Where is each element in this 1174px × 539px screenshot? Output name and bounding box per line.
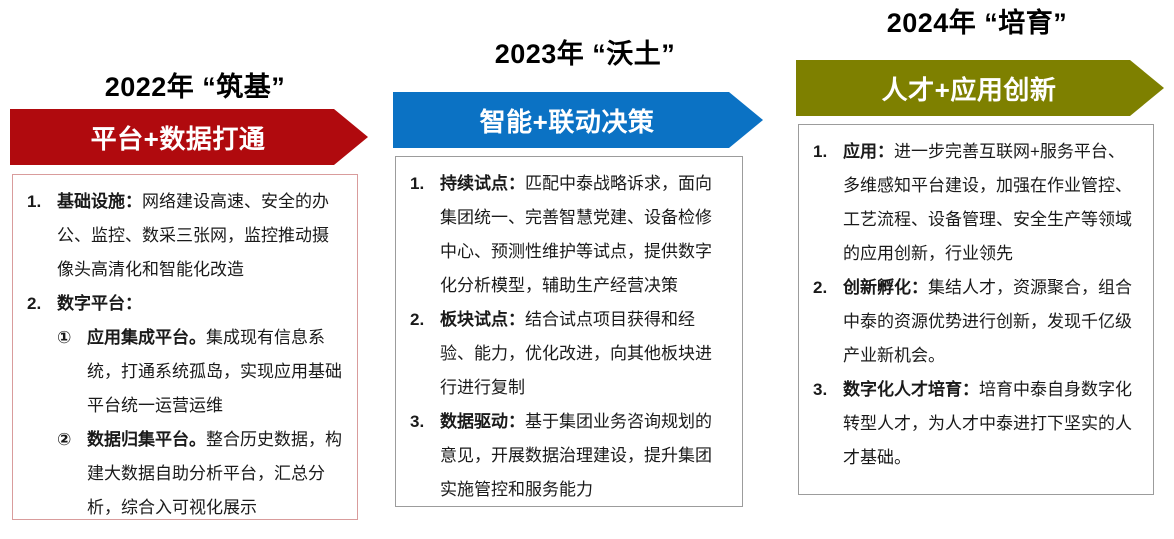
item-number: 1. bbox=[813, 135, 827, 169]
item-list-2023: 1.持续试点：匹配中泰战略诉求，面向集团统一、完善智慧党建、设备检修中心、预测性… bbox=[406, 167, 728, 507]
roadmap-column-2022: 2022年 “筑基” 平台+数据打通 1.基础设施：网络建设高速、安全的办公、监… bbox=[0, 0, 390, 539]
sub-item-number: ① bbox=[57, 321, 71, 355]
sub-item-lead: 数据归集平台。 bbox=[87, 430, 206, 449]
sub-list-item: ②数据归集平台。整合历史数据，构建大数据自助分析平台，汇总分析，综合入可视化展示 bbox=[57, 423, 343, 525]
item-lead: 数字化人才培育： bbox=[843, 380, 979, 399]
roadmap-column-2024: 2024年 “培育” 人才+应用创新 1.应用：进一步完善互联网+服务平台、多维… bbox=[780, 0, 1174, 539]
content-box-2024: 1.应用：进一步完善互联网+服务平台、多维感知平台建设，加强在作业管控、工艺流程… bbox=[798, 124, 1154, 495]
list-item: 2.数字平台： ①应用集成平台。集成现有信息系统，打通系统孤岛，实现应用基础平台… bbox=[23, 287, 343, 525]
list-item: 2.板块试点：结合试点项目获得和经验、能力，优化改进，向其他板块进行进行复制 bbox=[406, 303, 728, 405]
item-number: 2. bbox=[410, 303, 424, 337]
banner-platform-data: 平台+数据打通 bbox=[10, 109, 368, 165]
sub-item-lead: 应用集成平台。 bbox=[87, 328, 206, 347]
item-number: 3. bbox=[410, 405, 424, 439]
content-box-2023: 1.持续试点：匹配中泰战略诉求，面向集团统一、完善智慧党建、设备检修中心、预测性… bbox=[395, 156, 743, 507]
item-number: 2. bbox=[813, 271, 827, 305]
item-lead: 数字平台： bbox=[57, 294, 142, 313]
sub-item-list: ①应用集成平台。集成现有信息系统，打通系统孤岛，实现应用基础平台统一运营运维 ②… bbox=[57, 321, 343, 525]
item-lead: 创新孵化： bbox=[843, 278, 928, 297]
content-box-2022: 1.基础设施：网络建设高速、安全的办公、监控、数采三张网，监控推动摄像头高清化和… bbox=[12, 174, 358, 520]
banner-intelligent-decision: 智能+联动决策 bbox=[393, 92, 763, 148]
item-number: 1. bbox=[27, 185, 41, 219]
item-lead: 持续试点： bbox=[440, 174, 525, 193]
year-title-2022: 2022年 “筑基” bbox=[0, 65, 390, 104]
banner-talent-innovation: 人才+应用创新 bbox=[796, 60, 1164, 116]
list-item: 2.创新孵化：集结人才，资源聚合，组合中泰的资源优势进行创新，发现千亿级产业新机… bbox=[809, 271, 1139, 373]
item-number: 1. bbox=[410, 167, 424, 201]
sub-item-number: ② bbox=[57, 423, 71, 457]
item-lead: 数据驱动： bbox=[440, 412, 525, 431]
item-lead: 基础设施： bbox=[57, 192, 142, 211]
list-item: 3.数据驱动：基于集团业务咨询规划的意见，开展数据治理建设，提升集团实施管控和服… bbox=[406, 405, 728, 507]
item-lead: 应用： bbox=[843, 142, 894, 161]
item-number: 2. bbox=[27, 287, 41, 321]
year-title-2024: 2024年 “培育” bbox=[780, 1, 1174, 40]
item-lead: 板块试点： bbox=[440, 310, 525, 329]
list-item: 1.应用：进一步完善互联网+服务平台、多维感知平台建设，加强在作业管控、工艺流程… bbox=[809, 135, 1139, 271]
list-item: 3.数字化人才培育：培育中泰自身数字化转型人才，为人才中泰进打下坚实的人才基础。 bbox=[809, 373, 1139, 475]
item-list-2024: 1.应用：进一步完善互联网+服务平台、多维感知平台建设，加强在作业管控、工艺流程… bbox=[809, 135, 1139, 475]
sub-list-item: ①应用集成平台。集成现有信息系统，打通系统孤岛，实现应用基础平台统一运营运维 bbox=[57, 321, 343, 423]
roadmap-column-2023: 2023年 “沃土” 智能+联动决策 1.持续试点：匹配中泰战略诉求，面向集团统… bbox=[390, 0, 780, 539]
year-title-2023: 2023年 “沃土” bbox=[390, 32, 780, 71]
item-list-2022: 1.基础设施：网络建设高速、安全的办公、监控、数采三张网，监控推动摄像头高清化和… bbox=[23, 185, 343, 525]
item-number: 3. bbox=[813, 373, 827, 407]
list-item: 1.基础设施：网络建设高速、安全的办公、监控、数采三张网，监控推动摄像头高清化和… bbox=[23, 185, 343, 287]
list-item: 1.持续试点：匹配中泰战略诉求，面向集团统一、完善智慧党建、设备检修中心、预测性… bbox=[406, 167, 728, 303]
